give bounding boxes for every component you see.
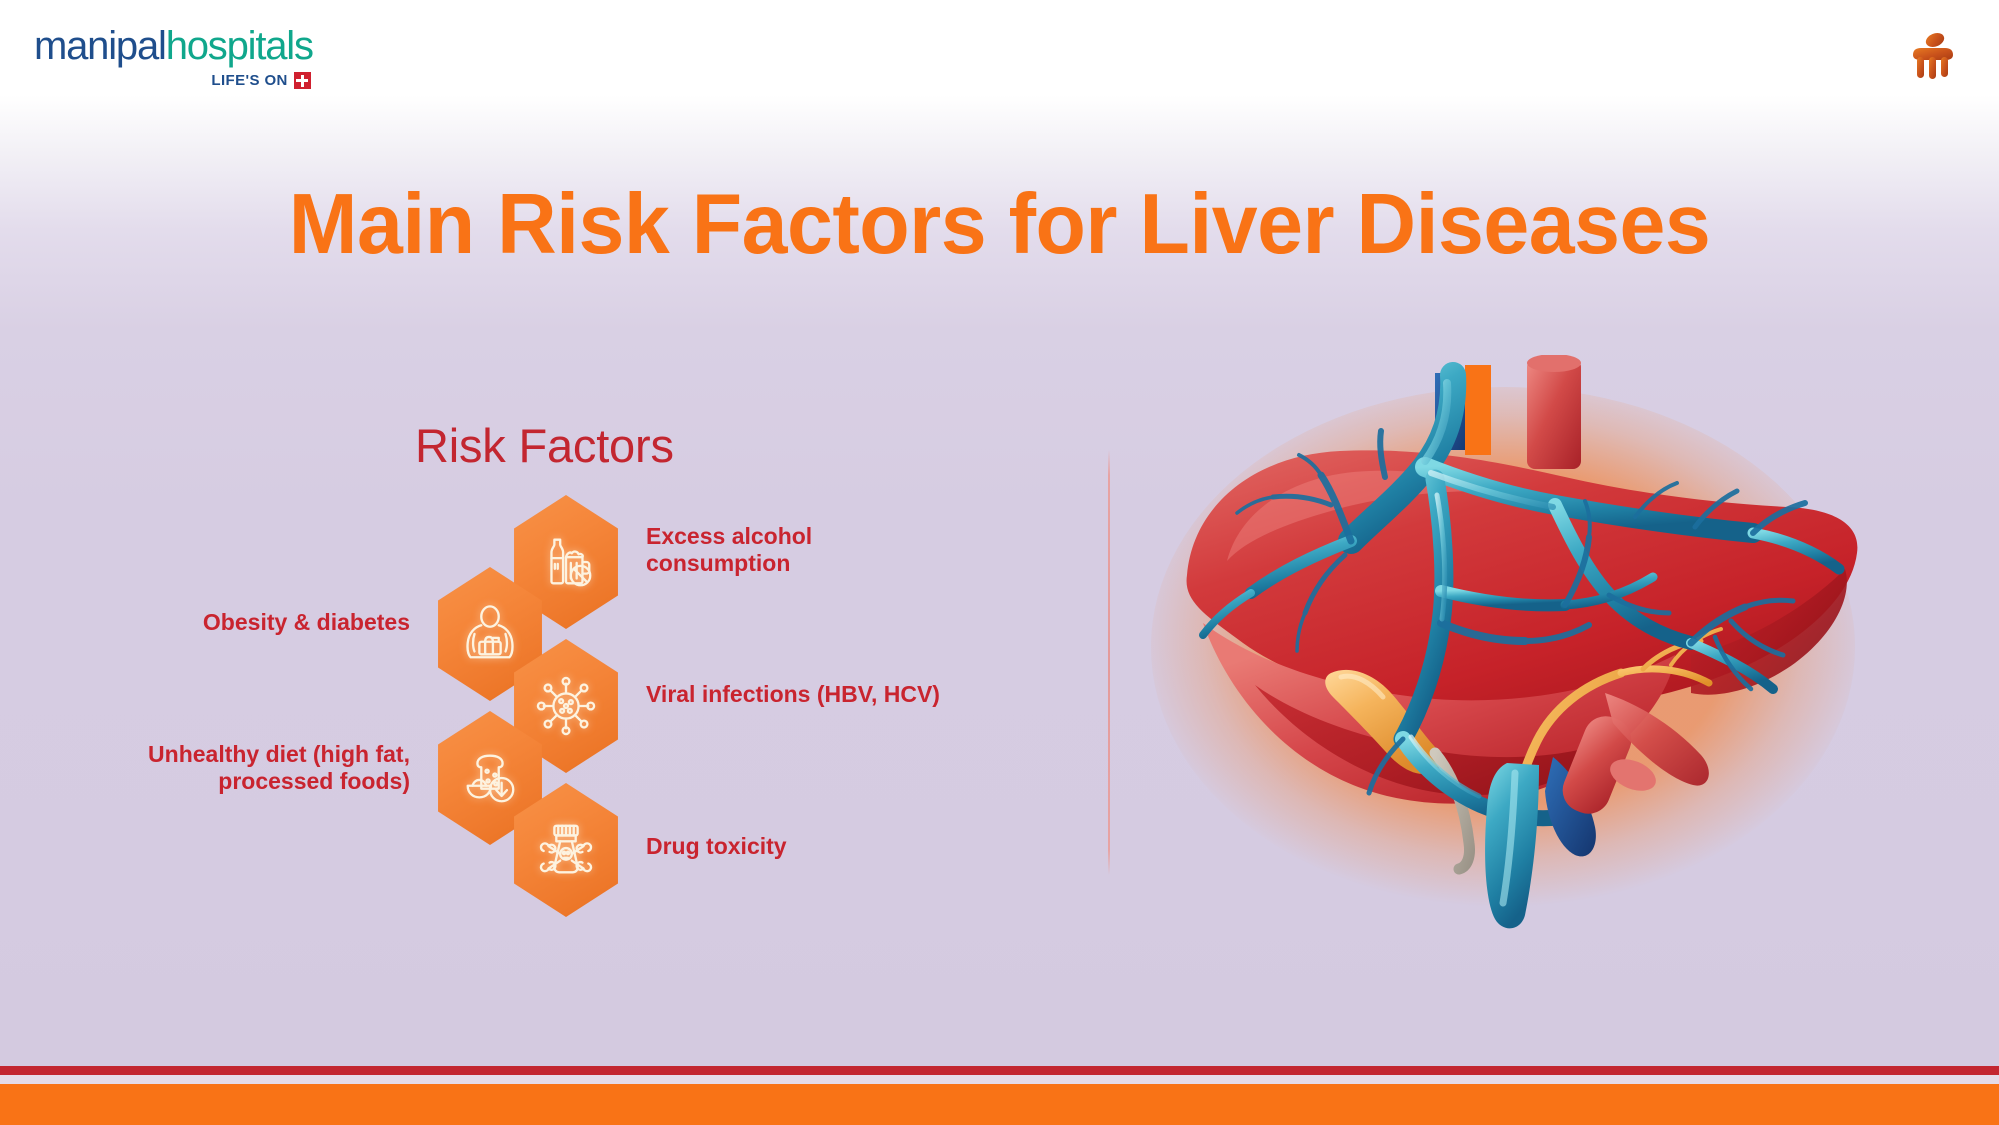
footer-gap xyxy=(0,1075,1999,1084)
liver-anatomy-illustration xyxy=(1135,355,1875,930)
slide-canvas: manipalhospitals LIFE'S ON xyxy=(0,0,1999,1125)
logo-wordmark-part1: manipal xyxy=(34,24,166,68)
risk-factor-label-unhealthy-diet: Unhealthy diet (high fat, processed food… xyxy=(70,741,410,795)
footer-accent-rule xyxy=(0,1066,1999,1075)
manipal-hospitals-logo[interactable]: manipalhospitals LIFE'S ON xyxy=(34,26,313,89)
page-title: Main Risk Factors for Liver Diseases xyxy=(30,176,1969,274)
risk-factor-label-viral-infections: Viral infections (HBV, HCV) xyxy=(646,681,1006,708)
footer-bar xyxy=(0,1084,1999,1125)
manipal-people-mark-icon xyxy=(1905,28,1957,80)
section-subtitle: Risk Factors xyxy=(415,418,674,473)
logo-wordmark-part2: hospitals xyxy=(166,24,313,68)
logo-tagline-row: LIFE'S ON xyxy=(34,72,313,89)
medical-cross-icon xyxy=(294,72,311,89)
risk-factor-label-drug-toxicity: Drug toxicity xyxy=(646,833,906,860)
risk-factor-label-excess-alcohol: Excess alcohol consumption xyxy=(646,523,876,577)
logo-tagline: LIFE'S ON xyxy=(211,73,287,88)
logo-wordmark: manipalhospitals xyxy=(34,26,313,66)
risk-factor-item-drug-toxicity[interactable]: Drug toxicity xyxy=(506,783,626,917)
pill-bottle-skull-crossbones-icon xyxy=(506,783,626,917)
risk-factor-hexagon-cluster: Excess alcohol consumption Obesity & dia… xyxy=(430,495,1110,895)
header-bar: manipalhospitals LIFE'S ON xyxy=(0,0,1999,95)
risk-factor-label-obesity-diabetes: Obesity & diabetes xyxy=(110,609,410,636)
